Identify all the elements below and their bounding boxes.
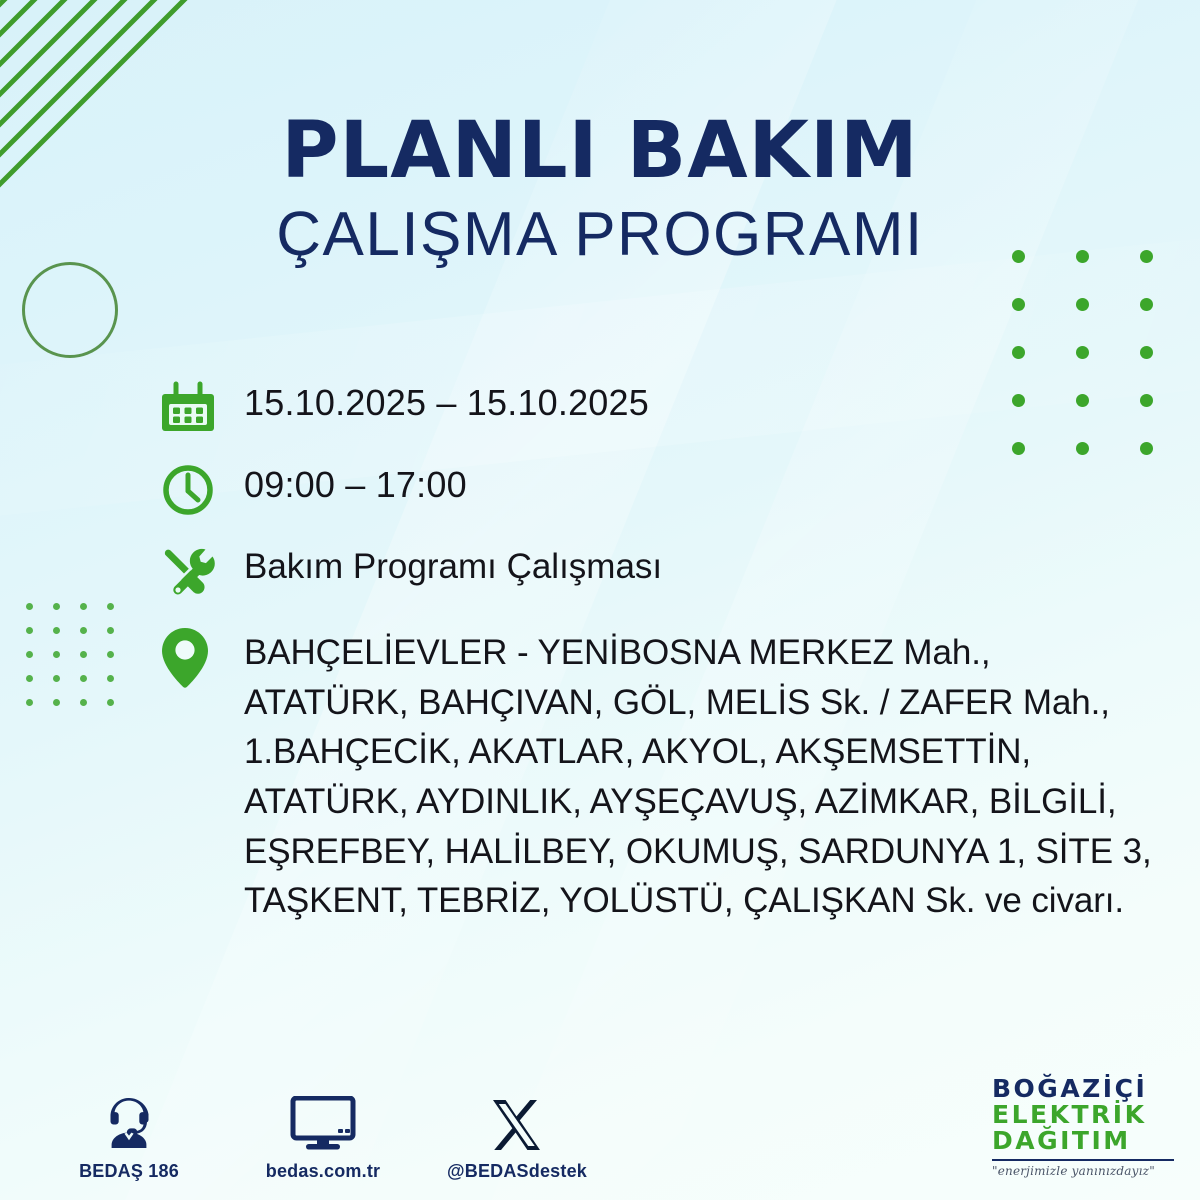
info-row-address: BAHÇELİEVLER - YENİBOSNA MERKEZ Mah., AT… (160, 624, 1170, 926)
info-row-time: 09:00 – 17:00 (160, 460, 1170, 518)
x-twitter-icon (490, 1090, 544, 1152)
contact-label-x: @BEDASdestek (447, 1161, 587, 1182)
info-row-work-type: Bakım Programı Çalışması (160, 542, 1170, 600)
page-title: PLANLI BAKIM (0, 112, 1200, 190)
contact-item-x[interactable]: @BEDASdestek (442, 1090, 592, 1182)
contact-label-website: bedas.com.tr (266, 1161, 380, 1182)
poster-footer: BEDAŞ 186 bedas.com.tr (0, 1020, 1200, 1200)
page-subtitle: ÇALIŞMA PROGRAMI (0, 204, 1200, 266)
contact-list: BEDAŞ 186 bedas.com.tr (54, 1090, 592, 1182)
calendar-icon (160, 378, 244, 436)
planned-maintenance-poster: PLANLI BAKIM ÇALIŞMA PROGRAMI (0, 0, 1200, 1200)
time-range-value: 09:00 – 17:00 (244, 460, 467, 506)
contact-label-phone: BEDAŞ 186 (79, 1161, 179, 1182)
headset-support-icon (100, 1090, 158, 1152)
monitor-website-icon (290, 1090, 356, 1152)
circle-outline-decoration (22, 262, 118, 358)
info-row-date: 15.10.2025 – 15.10.2025 (160, 378, 1170, 436)
logo-line-bogazici: BOĞAZİÇİ (992, 1076, 1178, 1102)
bedas-logo: BOĞAZİÇİ ELEKTRİK DAĞITIM "enerjimizle y… (992, 1076, 1178, 1178)
date-range-value: 15.10.2025 – 15.10.2025 (244, 378, 649, 424)
logo-line-elektrik: ELEKTRİK (992, 1102, 1178, 1128)
contact-item-website[interactable]: bedas.com.tr (248, 1090, 398, 1182)
logo-line-dagitim: DAĞITIM (992, 1128, 1178, 1154)
poster-heading-block: PLANLI BAKIM ÇALIŞMA PROGRAMI (0, 112, 1200, 266)
logo-tagline: "enerjimizle yanınızdayız" (992, 1164, 1178, 1178)
contact-item-phone[interactable]: BEDAŞ 186 (54, 1090, 204, 1182)
dot-grid-left-decoration (16, 594, 124, 714)
tools-icon (160, 542, 244, 600)
address-value: BAHÇELİEVLER - YENİBOSNA MERKEZ Mah., AT… (244, 624, 1152, 926)
clock-icon (160, 460, 244, 518)
logo-divider (992, 1159, 1174, 1161)
info-list: 15.10.2025 – 15.10.2025 09:00 – 17:00 (160, 378, 1170, 950)
location-pin-icon (160, 624, 244, 690)
work-type-value: Bakım Programı Çalışması (244, 542, 662, 587)
